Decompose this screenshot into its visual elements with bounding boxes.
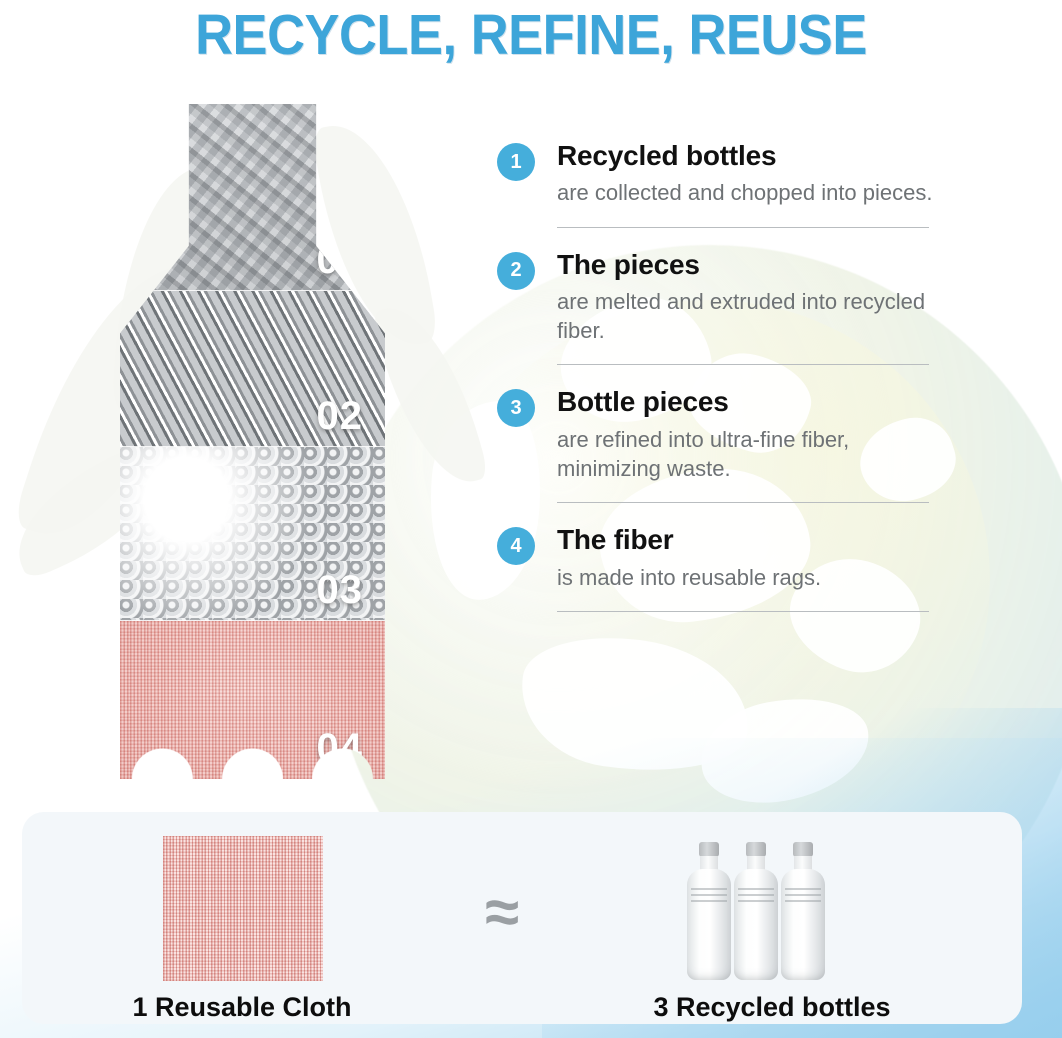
bottle-ring — [738, 888, 774, 890]
bottle-band-04: 04 — [120, 621, 385, 779]
page-title: RECYCLE, REFINE, REUSE — [42, 2, 1019, 68]
step-number-badge: 3 — [497, 389, 535, 427]
band-number: 03 — [317, 568, 364, 613]
step-number-badge: 1 — [497, 143, 535, 181]
bottle-ring — [785, 894, 821, 896]
bottle-ring — [738, 894, 774, 896]
bottle-icon — [734, 842, 778, 980]
band-number: 02 — [317, 394, 364, 439]
bottle-cap — [699, 842, 719, 857]
step-heading: Bottle pieces — [557, 386, 937, 417]
bottle-band-01: 01 — [120, 104, 385, 291]
step-heading: The pieces — [557, 249, 937, 280]
bottle-body — [781, 869, 825, 980]
step-divider — [557, 364, 929, 365]
step-item-4: 4 The fiber is made into reusable rags. — [497, 524, 937, 592]
bottles-image — [677, 826, 847, 981]
step-divider — [557, 502, 929, 503]
comparison-card: 1 Reusable Cloth ≈ — [22, 812, 1022, 1024]
step-divider — [557, 227, 929, 228]
bottle-silhouette: 01 02 03 04 — [120, 104, 385, 779]
bottle-cap — [793, 842, 813, 857]
step-body: are collected and chopped into pieces. — [557, 178, 932, 207]
cloth-label: 1 Reusable Cloth — [62, 992, 422, 1023]
bottle-icon — [781, 842, 825, 980]
step-item-1: 1 Recycled bottles are collected and cho… — [497, 140, 937, 208]
step-body: are refined into ultra-fine fiber, minim… — [557, 425, 937, 484]
step-item-2: 2 The pieces are melted and extruded int… — [497, 249, 937, 346]
step-divider — [557, 611, 929, 612]
band-number: 01 — [317, 238, 364, 283]
step-body: are melted and extruded into recycled fi… — [557, 287, 937, 346]
step-heading: The fiber — [557, 524, 821, 555]
bottle-ring — [738, 900, 774, 902]
bottle-band-02: 02 — [120, 291, 385, 447]
step-number-badge: 4 — [497, 527, 535, 565]
approximately-equal-icon: ≈ — [462, 882, 542, 944]
bottle-band-03: 03 — [120, 447, 385, 621]
step-heading: Recycled bottles — [557, 140, 932, 171]
bottle-body — [687, 869, 731, 980]
step-body: is made into reusable rags. — [557, 563, 821, 592]
bottles-label: 3 Recycled bottles — [602, 992, 942, 1023]
step-number-badge: 2 — [497, 252, 535, 290]
cloth-swatch-image — [163, 836, 323, 981]
infographic-page: RECYCLE, REFINE, REUSE 01 02 03 04 1 — [0, 0, 1062, 1038]
bottle-ring — [691, 888, 727, 890]
band-number: 04 — [317, 726, 364, 771]
bottle-icon — [687, 842, 731, 980]
bottle-ring — [785, 900, 821, 902]
bottle-ring — [785, 888, 821, 890]
continent-shape — [512, 625, 758, 786]
bottle-ring — [691, 894, 727, 896]
continent-shape — [693, 686, 878, 814]
bottle-diagram: 01 02 03 04 — [120, 104, 385, 779]
bottle-body — [734, 869, 778, 980]
step-item-3: 3 Bottle pieces are refined into ultra-f… — [497, 386, 937, 483]
bottle-cap — [746, 842, 766, 857]
bottle-ring — [691, 900, 727, 902]
steps-list: 1 Recycled bottles are collected and cho… — [497, 140, 937, 633]
leaf-icon — [370, 294, 490, 496]
